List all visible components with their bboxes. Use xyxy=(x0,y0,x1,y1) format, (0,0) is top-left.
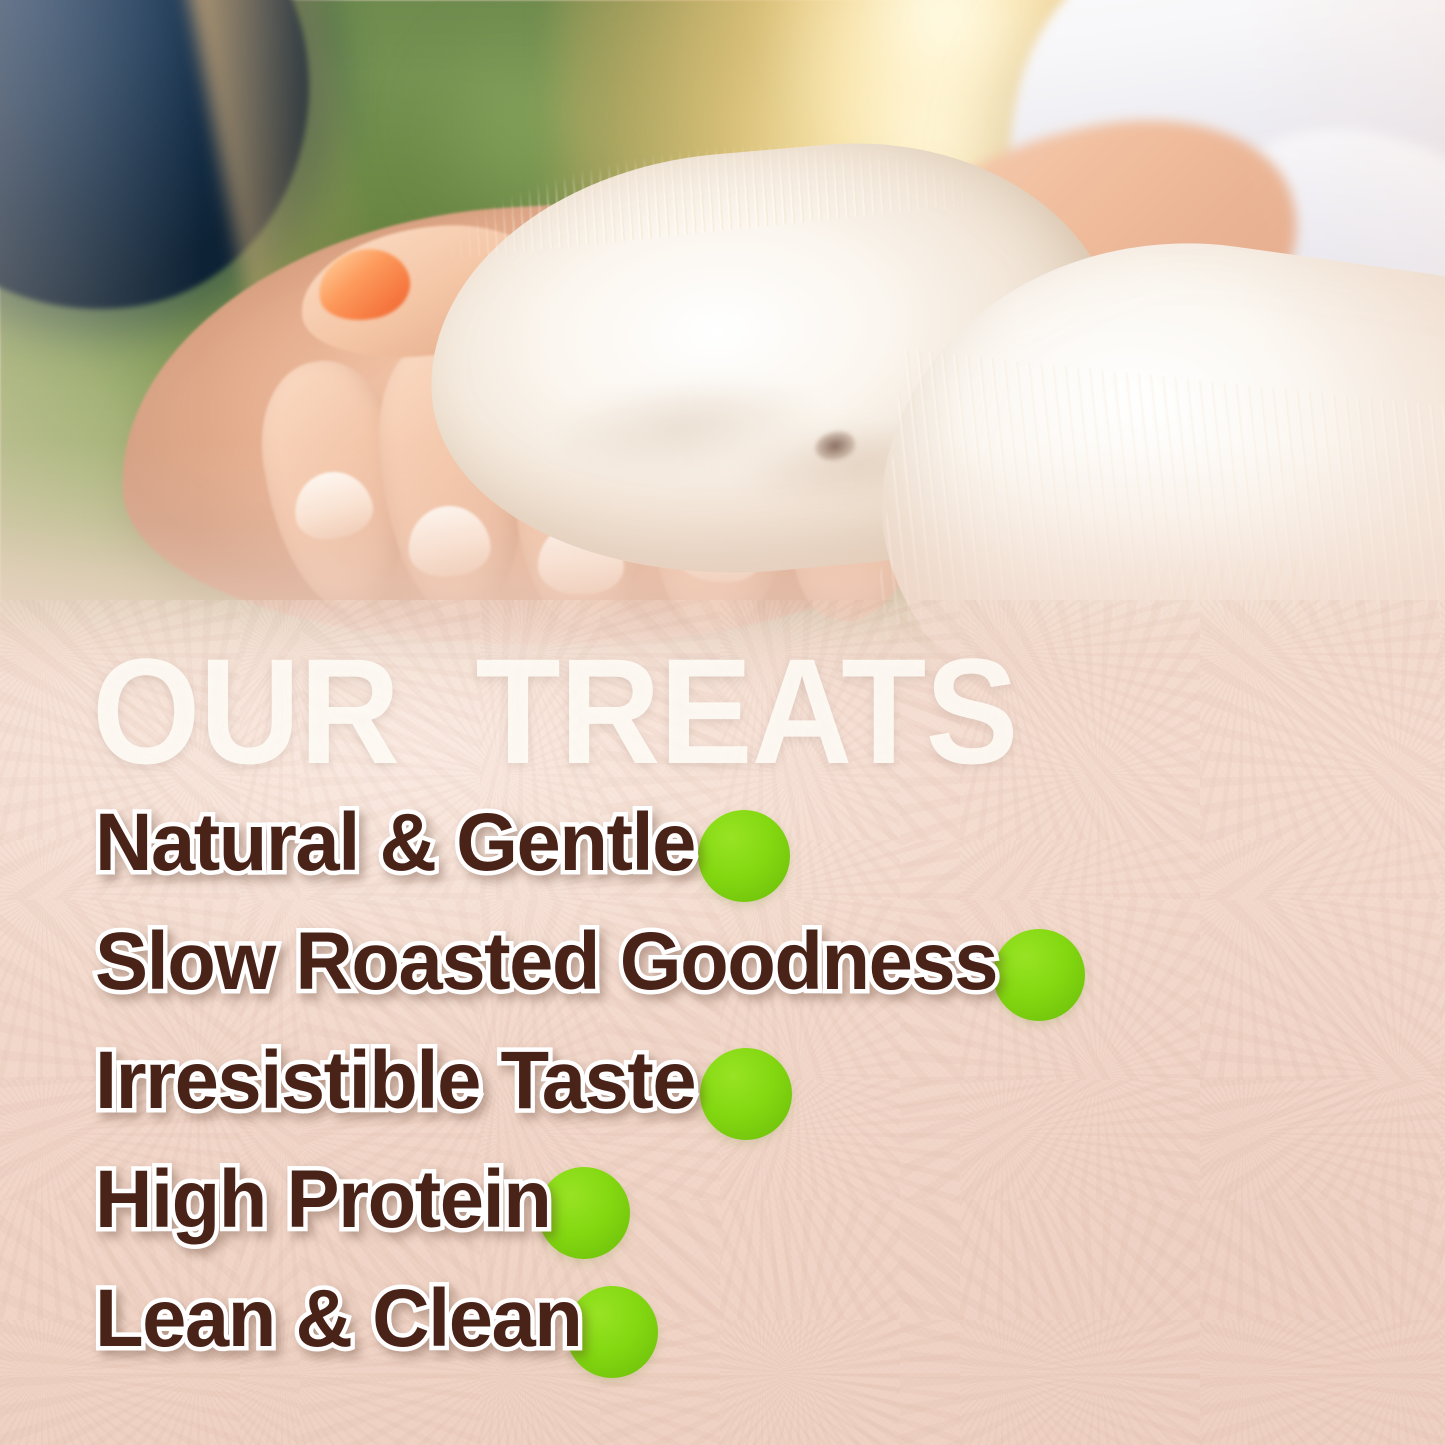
feature-list: Natural & Gentle Slow Roasted Goodness I… xyxy=(0,795,1445,1390)
feature-label: Natural & Gentle xyxy=(95,795,695,890)
green-dot-icon xyxy=(993,929,1085,1021)
green-dot-icon xyxy=(698,810,790,902)
list-item: Slow Roasted Goodness xyxy=(0,914,1445,1033)
list-item: Lean & Clean xyxy=(0,1271,1445,1390)
feature-label: Lean & Clean xyxy=(95,1271,581,1366)
headline-word-treats: TREATS xyxy=(475,627,1017,795)
feature-label: Slow Roasted Goodness xyxy=(95,914,997,1009)
headline-word-our: OUR xyxy=(92,627,399,795)
product-feature-poster: OURTREATS Natural & Gentle Slow Roasted … xyxy=(0,0,1445,1445)
list-item: Natural & Gentle xyxy=(0,795,1445,914)
feature-label: High Protein xyxy=(95,1152,550,1247)
feature-label: Irresistible Taste xyxy=(95,1033,695,1128)
green-dot-icon xyxy=(538,1167,630,1259)
list-item: Irresistible Taste xyxy=(0,1033,1445,1152)
page-title: OURTREATS xyxy=(92,636,1189,786)
green-dot-icon xyxy=(700,1048,792,1140)
list-item: High Protein xyxy=(0,1152,1445,1271)
